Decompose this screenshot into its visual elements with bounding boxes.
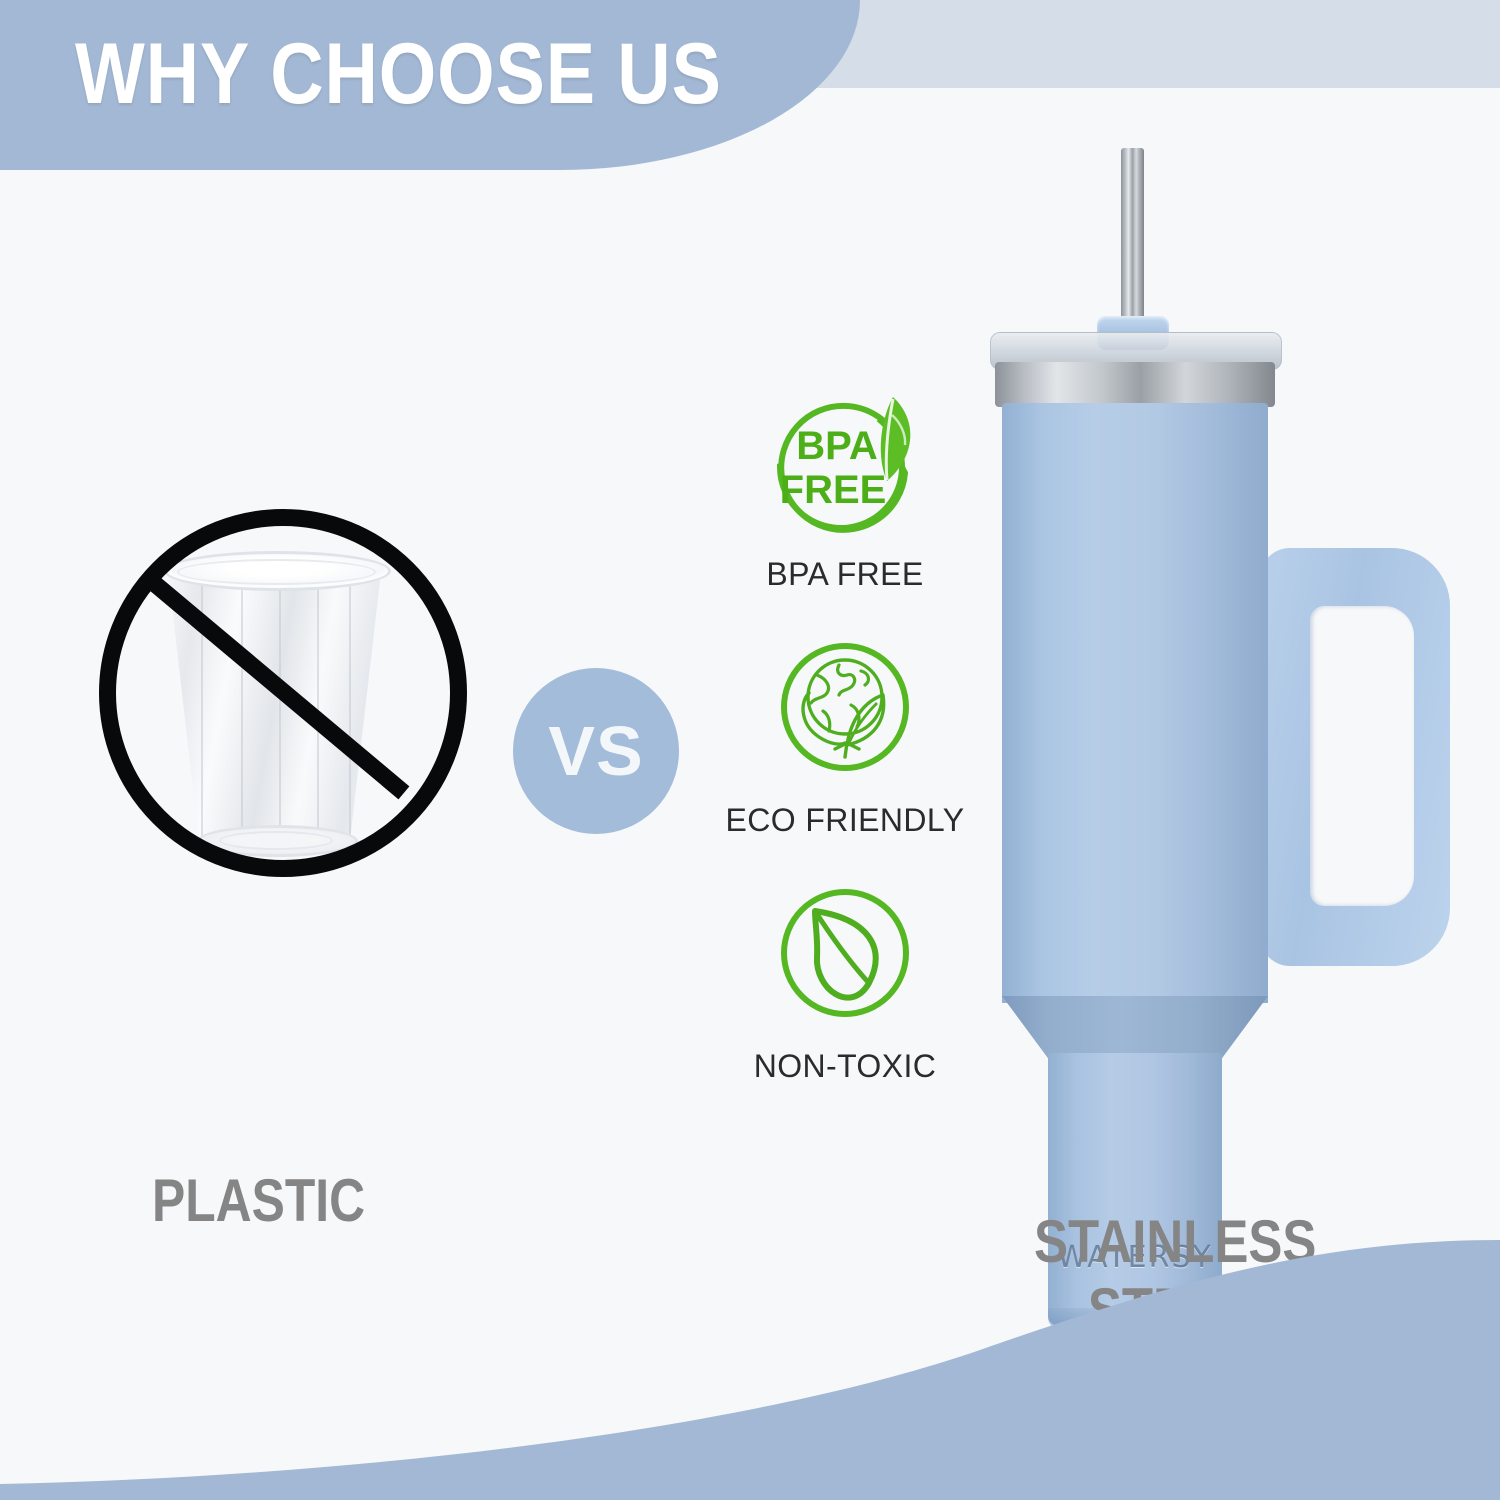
- stainless-steel-label-line2: STEEL: [1034, 1276, 1306, 1344]
- prohibition-sign-icon: [95, 505, 455, 865]
- vs-badge: VS: [513, 668, 679, 834]
- leaf-icon: [765, 877, 925, 1037]
- infographic-page: WHY CHOOSE US PLASTIC VS: [0, 0, 1500, 1500]
- feature-item-non-toxic: NON-TOXIC: [700, 877, 990, 1085]
- bpa-free-badge-icon: BPA FREE: [765, 385, 925, 545]
- bpa-badge-text-line1: BPA: [796, 424, 877, 468]
- stainless-steel-label: STAINLESS STEEL: [1034, 1208, 1306, 1344]
- feature-item-eco-friendly: ECO FRIENDLY: [700, 631, 990, 839]
- metal-straw: [1121, 148, 1144, 328]
- feature-label-non-toxic: NON-TOXIC: [700, 1047, 990, 1085]
- vs-label: VS: [548, 716, 643, 786]
- feature-item-bpa-free: BPA FREE BPA FREE: [700, 385, 990, 593]
- stainless-steel-tumbler-image: WATERSY: [960, 148, 1460, 1238]
- tumbler-body-upper: [1002, 403, 1268, 1003]
- plastic-label: PLASTIC: [152, 1166, 365, 1236]
- non-toxic-svg: [765, 877, 925, 1037]
- eco-friendly-svg: [765, 631, 925, 791]
- stainless-steel-label-line1: STAINLESS: [1034, 1208, 1306, 1276]
- plastic-comparison-graphic: [95, 505, 455, 865]
- bpa-free-svg: BPA FREE: [765, 385, 925, 545]
- feature-label-bpa-free: BPA FREE: [700, 555, 990, 593]
- bpa-badge-text-line2: FREE: [780, 468, 887, 512]
- globe-leaves-icon: [765, 631, 925, 791]
- page-title: WHY CHOOSE US: [75, 24, 729, 124]
- feature-list: BPA FREE BPA FREE: [700, 385, 990, 1123]
- feature-label-eco-friendly: ECO FRIENDLY: [700, 801, 990, 839]
- tumbler-handle-opening: [1310, 606, 1414, 906]
- tumbler-steel-collar: [995, 362, 1275, 407]
